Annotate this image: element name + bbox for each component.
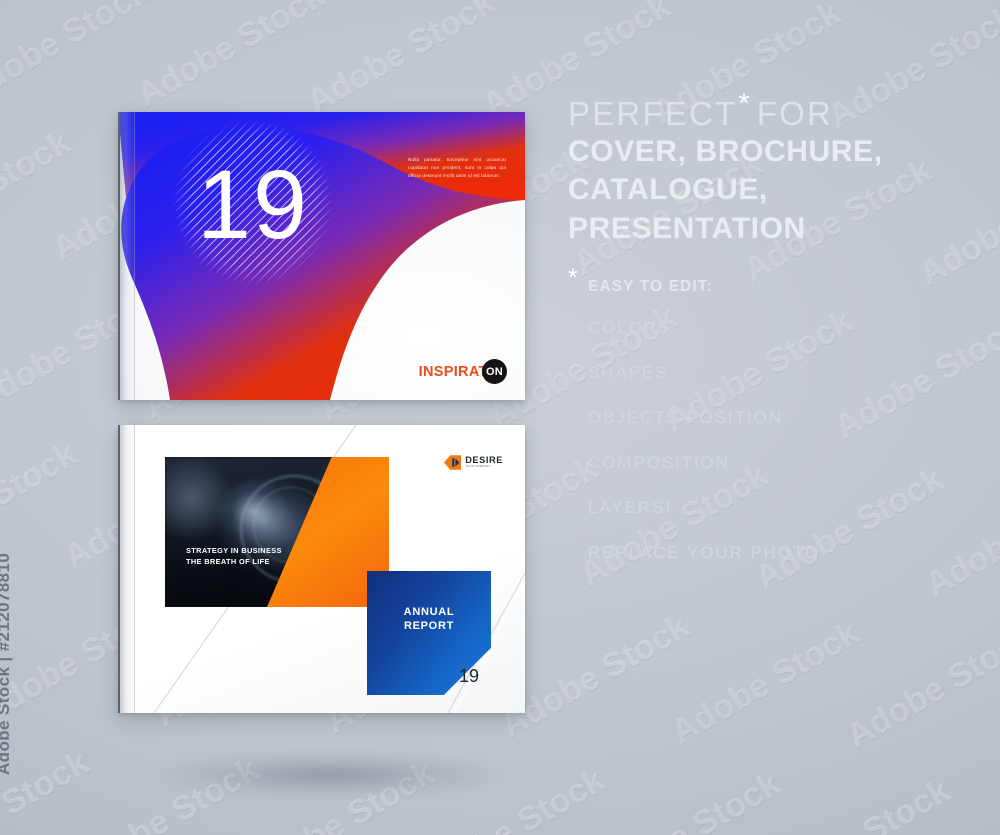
screenshot-canvas: Adobe StockAdobe StockAdobe StockAdobe S…	[0, 0, 1000, 835]
promo-headline: PERFECT * FOR COVER, BROCHURE, CATALOGUE…	[568, 96, 980, 248]
inspiration-logo-badge: ON	[482, 359, 507, 384]
drop-shadow	[150, 752, 510, 798]
inspiration-logo-on: ON	[486, 366, 503, 378]
promo-for-word: FOR	[757, 96, 833, 133]
feature-item-composition: COMPOSITION	[588, 453, 980, 473]
cover-two-spine-crease	[134, 425, 135, 713]
feature-item-colors: COLORS	[588, 318, 980, 338]
annual-report-line-1: ANNUAL	[404, 605, 455, 619]
feature-item-shapes: SHAPES	[588, 363, 980, 383]
promo-perfect-word: PERFECT	[568, 96, 737, 133]
promo-bold-line-3: PRESENTATION	[568, 210, 980, 248]
asterisk-icon: *	[738, 90, 749, 119]
watermark-asset-id: Adobe Stock | #212078810	[0, 553, 14, 775]
promo-bold-line-2: CATALOGUE,	[568, 171, 980, 209]
desire-play-icon	[444, 454, 461, 471]
annual-report-label: ANNUAL REPORT	[367, 571, 491, 695]
promo-headline-line-1: PERFECT * FOR	[568, 96, 980, 133]
easy-to-edit-block: * EASY TO EDIT:	[568, 278, 980, 296]
promo-panel: PERFECT * FOR COVER, BROCHURE, CATALOGUE…	[568, 96, 980, 588]
photo-caption-line-2: THE BREATH OF LIFE	[186, 556, 282, 567]
desire-logo-text: DESIRE YOUR COMPANY	[465, 456, 503, 469]
cover-one[interactable]: 19 Nulla pariatur. Excepteur sint occaec…	[118, 112, 525, 400]
cover-two[interactable]: STRATEGY IN BUSINESS THE BREATH OF LIFE …	[118, 425, 525, 713]
cover-one-spine-crease	[134, 112, 135, 400]
feature-item-objects-position: OBJECTS POSITION	[588, 408, 980, 428]
desire-brand-tagline: YOUR COMPANY	[465, 466, 503, 469]
promo-bold-line-1: COVER, BROCHURE,	[568, 133, 980, 171]
cover-one-year: 19	[173, 156, 333, 253]
feature-list: COLORS SHAPES OBJECTS POSITION COMPOSITI…	[568, 318, 980, 563]
asterisk-icon-secondary: *	[568, 266, 578, 291]
inspiration-logo[interactable]: INSPIRATI ON	[419, 359, 507, 384]
feature-item-layers: LAYERS!	[588, 498, 980, 518]
feature-item-replace-photo: REPLACE YOUR PHOTO	[588, 543, 980, 563]
annual-report-line-2: REPORT	[404, 619, 454, 633]
cover-one-body-text: Nulla pariatur. Excepteur sint occaecat …	[408, 156, 506, 180]
desire-logo[interactable]: DESIRE YOUR COMPANY	[444, 454, 503, 471]
inspiration-logo-word: INSPIRATI	[419, 364, 492, 380]
easy-to-edit-label: EASY TO EDIT:	[570, 278, 980, 296]
photo-caption-line-1: STRATEGY IN BUSINESS	[186, 545, 282, 556]
cover-two-photo-caption: STRATEGY IN BUSINESS THE BREATH OF LIFE	[186, 545, 282, 568]
desire-brand-name: DESIRE	[465, 456, 503, 465]
